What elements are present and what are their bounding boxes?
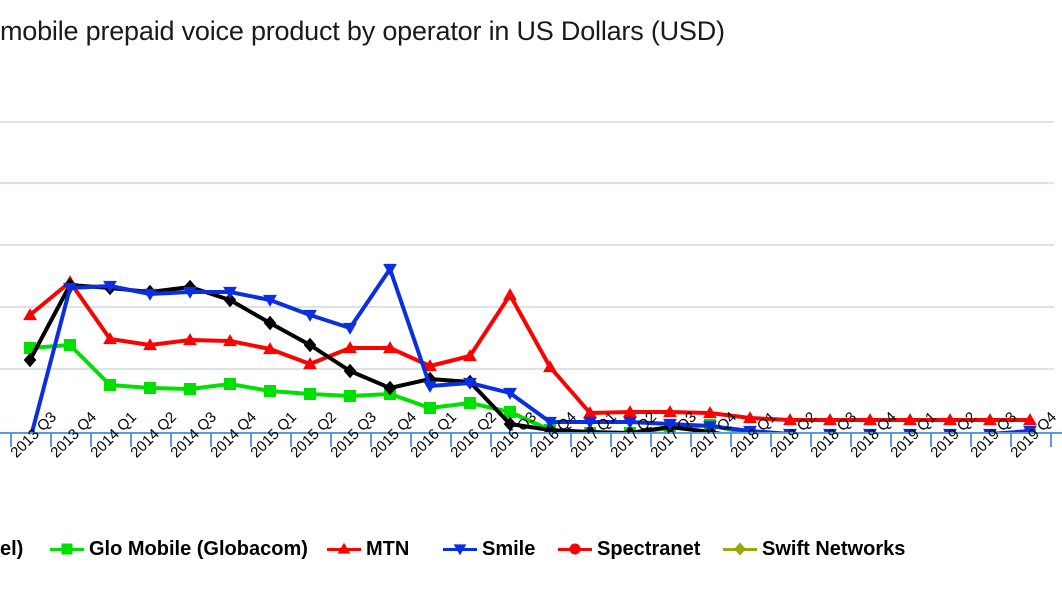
diamond-marker-icon <box>723 539 757 559</box>
data-point <box>64 339 76 351</box>
legend-item-mtn[interactable]: MTN <box>327 532 409 566</box>
series-line <box>30 282 1030 420</box>
legend-label: Swift Networks <box>762 539 905 559</box>
legend-item-swift-networks[interactable]: Swift Networks <box>723 532 905 566</box>
legend-label: MTN <box>366 539 409 559</box>
legend-glyph <box>567 541 583 557</box>
data-point <box>343 323 357 335</box>
plot-area <box>0 60 1062 432</box>
data-point <box>264 316 277 330</box>
legend-item-glo-mobile-globacom[interactable]: Glo Mobile (Globacom) <box>50 532 308 566</box>
data-point <box>144 382 156 394</box>
legend-glyph <box>336 541 352 557</box>
legend-glyph <box>59 541 75 557</box>
plot-svg <box>0 60 1062 432</box>
data-point <box>503 288 517 300</box>
gridlines <box>0 122 1054 369</box>
legend-label: Spectranet <box>597 539 700 559</box>
chart-container: mobile prepaid voice product by operator… <box>0 0 1062 598</box>
legend-item-smile[interactable]: Smile <box>443 532 535 566</box>
legend-label: Glo Mobile (Globacom) <box>89 539 308 559</box>
data-point <box>464 397 476 409</box>
x-tick <box>1050 434 1052 447</box>
square-marker-icon <box>50 539 84 559</box>
legend-glyph <box>452 541 468 557</box>
series-lines <box>23 264 1037 432</box>
data-point <box>504 406 516 418</box>
legend-label: Smile <box>482 539 535 559</box>
legend-label: el) <box>0 539 23 559</box>
chart-title: mobile prepaid voice product by operator… <box>0 14 1062 48</box>
data-point <box>424 402 436 414</box>
legend-item-spectranet[interactable]: Spectranet <box>558 532 700 566</box>
legend-glyph <box>732 541 748 557</box>
data-point <box>304 388 316 400</box>
circle-marker-icon <box>558 539 592 559</box>
legend-item-el[interactable]: el) <box>0 532 23 566</box>
x-axis: 2013 Q32013 Q42014 Q12014 Q22014 Q32014 … <box>0 432 1062 520</box>
triangle-down-marker-icon <box>443 539 477 559</box>
data-point <box>344 390 356 402</box>
data-point <box>264 385 276 397</box>
data-point <box>184 383 196 395</box>
series-line <box>30 269 1030 432</box>
data-point <box>104 379 116 391</box>
chart-legend: el)Glo Mobile (Globacom)MTNSmileSpectran… <box>0 532 1062 574</box>
data-point <box>224 378 236 390</box>
triangle-marker-icon <box>327 539 361 559</box>
series-mtn <box>23 275 1037 425</box>
